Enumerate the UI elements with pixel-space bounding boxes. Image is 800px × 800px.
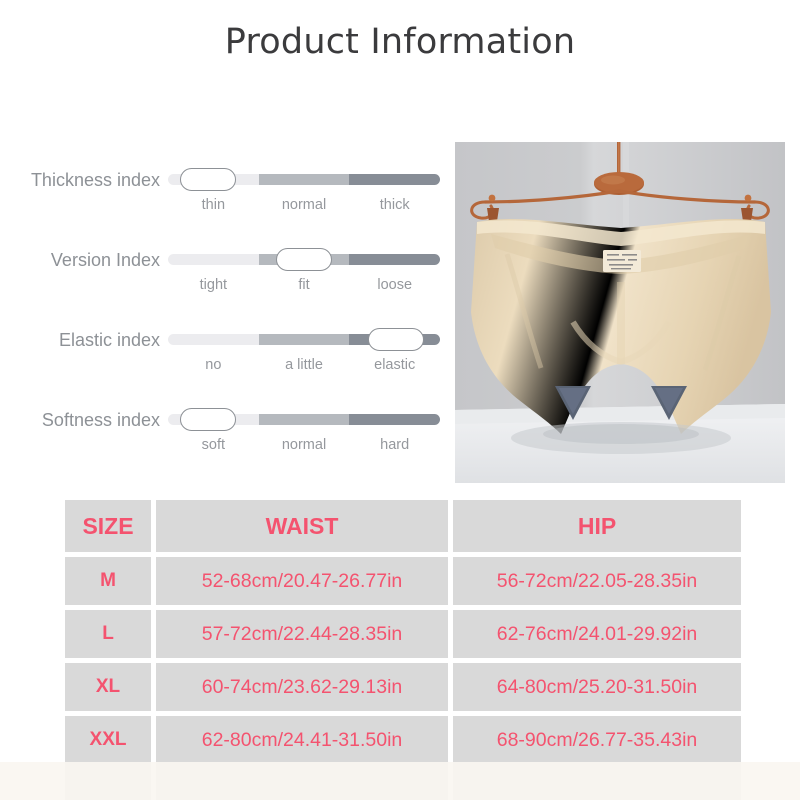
- slider-thumb-thickness[interactable]: [180, 168, 236, 191]
- slider-thumb-version[interactable]: [276, 248, 332, 271]
- slider-segment-mid: [259, 174, 350, 185]
- slider-tick-label: normal: [259, 437, 350, 453]
- product-photo-underwear-on-hanger: [455, 142, 785, 483]
- index-label-elastic: Elastic index: [0, 330, 160, 351]
- cell-waist: 57-72cm/22.44-28.35in: [156, 610, 448, 658]
- size-chart-table: SIZE WAIST HIP M 52-68cm/20.47-26.77in 5…: [65, 500, 741, 769]
- table-next-row-partial: [65, 762, 741, 800]
- slider-tick-label: fit: [259, 277, 350, 293]
- slider-tick-label: thin: [168, 197, 259, 213]
- slider-scale-softness: soft normal hard: [168, 437, 440, 453]
- index-label-version: Version Index: [0, 250, 160, 271]
- page-title: Product Information: [0, 22, 800, 62]
- table-row: L 57-72cm/22.44-28.35in 62-76cm/24.01-29…: [65, 610, 741, 658]
- slider-tick-label: no: [168, 357, 259, 373]
- slider-segment-high: [349, 254, 440, 265]
- slider-thumb-elastic[interactable]: [368, 328, 424, 351]
- cell-hip: 64-80cm/25.20-31.50in: [453, 663, 741, 711]
- index-row-elastic: Elastic index no a little elastic: [0, 320, 450, 400]
- slider-segment-mid: [259, 334, 350, 345]
- slider-segment-high: [349, 414, 440, 425]
- table-header-row: SIZE WAIST HIP: [65, 500, 741, 552]
- table-header-waist: WAIST: [156, 500, 448, 552]
- partial-cell-size: [65, 762, 151, 800]
- cell-hip: 56-72cm/22.05-28.35in: [453, 557, 741, 605]
- index-row-version: Version Index tight fit loose: [0, 240, 450, 320]
- partial-cell-hip: [453, 762, 741, 800]
- cell-size: L: [65, 610, 151, 658]
- product-index-panel: Thickness index thin normal thick Versio…: [0, 160, 450, 480]
- slider-tick-label: elastic: [349, 357, 440, 373]
- table-header-hip: HIP: [453, 500, 741, 552]
- slider-tick-label: normal: [259, 197, 350, 213]
- slider-tick-label: soft: [168, 437, 259, 453]
- cell-waist: 52-68cm/20.47-26.77in: [156, 557, 448, 605]
- slider-softness[interactable]: [168, 414, 440, 425]
- table-row: XXL 62-80cm/24.41-31.50in 68-90cm/26.77-…: [65, 716, 741, 764]
- slider-scale-elastic: no a little elastic: [168, 357, 440, 373]
- slider-segment-low: [168, 334, 259, 345]
- table-row: XL 60-74cm/23.62-29.13in 64-80cm/25.20-3…: [65, 663, 741, 711]
- index-row-softness: Softness index soft normal hard: [0, 400, 450, 480]
- index-label-thickness: Thickness index: [0, 170, 160, 191]
- index-label-softness: Softness index: [0, 410, 160, 431]
- slider-tick-label: loose: [349, 277, 440, 293]
- cell-waist: 60-74cm/23.62-29.13in: [156, 663, 448, 711]
- slider-thumb-softness[interactable]: [180, 408, 236, 431]
- index-row-thickness: Thickness index thin normal thick: [0, 160, 450, 240]
- slider-tick-label: thick: [349, 197, 440, 213]
- slider-tick-label: hard: [349, 437, 440, 453]
- table-row: M 52-68cm/20.47-26.77in 56-72cm/22.05-28…: [65, 557, 741, 605]
- slider-segment-low: [168, 254, 259, 265]
- slider-scale-thickness: thin normal thick: [168, 197, 440, 213]
- table-header-size: SIZE: [65, 500, 151, 552]
- cell-size: XXL: [65, 716, 151, 764]
- slider-scale-version: tight fit loose: [168, 277, 440, 293]
- cell-waist: 62-80cm/24.41-31.50in: [156, 716, 448, 764]
- partial-cell-waist: [156, 762, 448, 800]
- slider-elastic[interactable]: [168, 334, 440, 345]
- slider-segment-mid: [259, 414, 350, 425]
- cell-size: XL: [65, 663, 151, 711]
- slider-tick-label: tight: [168, 277, 259, 293]
- slider-version[interactable]: [168, 254, 440, 265]
- cell-hip: 62-76cm/24.01-29.92in: [453, 610, 741, 658]
- slider-thickness[interactable]: [168, 174, 440, 185]
- slider-tick-label: a little: [259, 357, 350, 373]
- cell-hip: 68-90cm/26.77-35.43in: [453, 716, 741, 764]
- cell-size: M: [65, 557, 151, 605]
- slider-segment-high: [349, 174, 440, 185]
